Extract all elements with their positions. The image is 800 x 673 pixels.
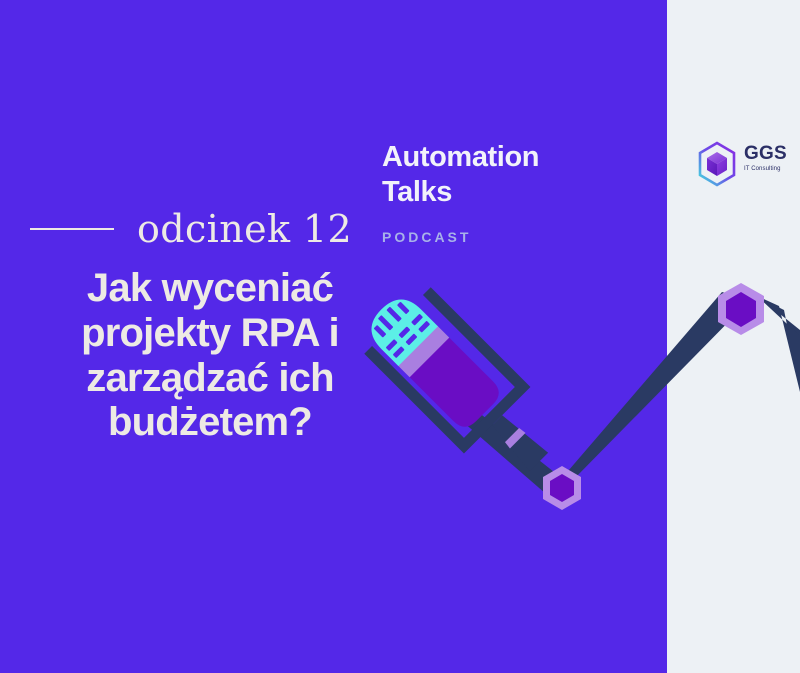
episode-row: odcinek 12 bbox=[0, 206, 400, 252]
show-title-line-1: Automation bbox=[382, 140, 612, 175]
headline-line-2: projekty RPA i bbox=[10, 311, 410, 356]
episode-rule bbox=[30, 228, 114, 230]
episode-label: odcinek 12 bbox=[137, 210, 352, 248]
logo-tagline: IT Consulting bbox=[744, 166, 792, 172]
headline-line-3: zarządzać ich bbox=[10, 356, 410, 401]
show-title: Automation Talks bbox=[382, 140, 612, 211]
hexagon-cube-icon bbox=[694, 141, 740, 187]
headline-line-1: Jak wyceniać bbox=[10, 266, 410, 311]
show-title-line-2: Talks bbox=[382, 175, 612, 210]
show-kicker: PODCAST bbox=[382, 229, 471, 245]
logo-name: GGS bbox=[744, 144, 792, 163]
ggs-logo: GGS IT Consulting bbox=[694, 141, 790, 189]
headline: Jak wyceniać projekty RPA i zarządzać ic… bbox=[10, 266, 410, 445]
logo-text: GGS IT Consulting bbox=[744, 144, 792, 172]
podcast-cover: odcinek 12 Jak wyceniać projekty RPA i z… bbox=[0, 0, 800, 673]
headline-line-4: budżetem? bbox=[10, 400, 410, 445]
